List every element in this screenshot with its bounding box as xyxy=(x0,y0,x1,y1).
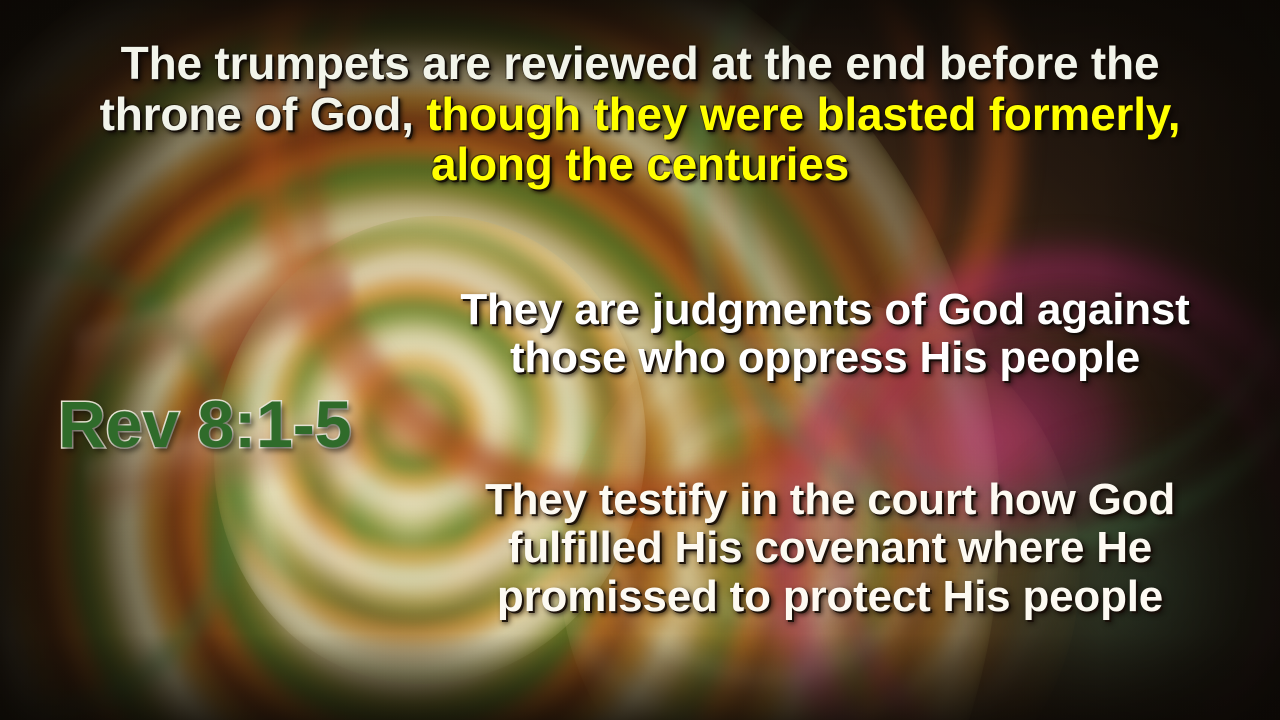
caption-top-paragraph: The trumpets are reviewed at the end bef… xyxy=(60,38,1220,190)
caption-bottom-paragraph: They testify in the court how God fulfil… xyxy=(440,476,1220,621)
caption-layer: The trumpets are reviewed at the end bef… xyxy=(0,0,1280,720)
presentation-slide: The trumpets are reviewed at the end bef… xyxy=(0,0,1280,720)
caption-top-highlight: though they were blasted formerly, along… xyxy=(426,88,1180,191)
scripture-reference-label: Rev 8:1-5 xyxy=(58,386,352,462)
caption-middle-paragraph: They are judgments of God against those … xyxy=(430,286,1220,383)
